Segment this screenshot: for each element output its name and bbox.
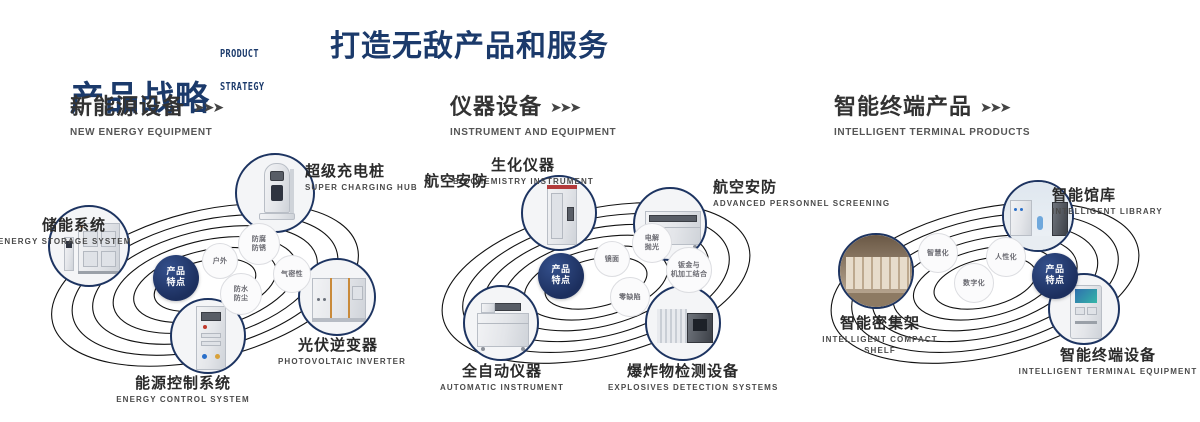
compact-shelf-icon — [840, 235, 912, 307]
section-title-cn: 仪器设备➤➤➤ — [450, 96, 616, 120]
label-intelligent-terminal-equipment: 智能终端设备 INTELLIGENT TERMINAL EQUIPMENT — [1018, 347, 1198, 377]
badge-product-features: 产品 特点 — [538, 253, 584, 299]
label-energy-control-system: 能源控制系统 ENERGY CONTROL SYSTEM — [88, 375, 278, 405]
label-intelligent-library: 智能馆库 INTELLIGENT LIBRARY — [1052, 187, 1192, 217]
page-title-en-line2: STRATEGY — [220, 81, 264, 92]
feature-bubble: 气密性 — [273, 255, 311, 293]
node-automatic-instrument[interactable] — [463, 285, 539, 361]
label-explosives-detection: 爆炸物检测设备 EXPLOSIVES DETECTION SYSTEMS — [608, 363, 758, 393]
feature-bubble: 电解抛光 — [632, 223, 672, 263]
label-intelligent-compact-shelf: 智能密集架 INTELLIGENT COMPACTSHELF — [790, 315, 970, 356]
section-title-cn: 新能源设备➤➤➤ — [70, 96, 222, 120]
page-title-en-line1: PRODUCT — [220, 48, 264, 59]
chevron-right-icon: ➤➤➤ — [980, 96, 1009, 120]
section-title-instrument: 仪器设备➤➤➤ INSTRUMENT AND EQUIPMENT — [450, 96, 616, 138]
diagram-group-new-energy: 储能系统 ENERGY STORAGE SYSTEM 超级充电桩 SUPER C… — [20, 155, 420, 415]
chevron-right-icon: ➤➤➤ — [193, 96, 222, 120]
feature-bubble: 钣金与机加工结合 — [666, 247, 712, 293]
section-title-intelligent-terminal: 智能终端产品➤➤➤ INTELLIGENT TERMINAL PRODUCTS — [834, 96, 1030, 138]
pv-inverter-cabinet-icon — [300, 260, 374, 334]
feature-bubble: 防腐防锈 — [238, 223, 280, 265]
badge-product-features: 产品 特点 — [1032, 253, 1078, 299]
automatic-instrument-icon — [465, 287, 537, 359]
label-energy-storage: 储能系统 ENERGY STORAGE SYSTEM — [0, 217, 106, 247]
section-title-new-energy: 新能源设备➤➤➤ NEW ENERGY EQUIPMENT — [70, 96, 222, 138]
feature-bubble: 智慧化 — [918, 233, 958, 273]
detection-cabinet-icon — [647, 287, 719, 359]
biochemistry-analyzer-icon — [523, 177, 595, 249]
feature-bubble: 防水防尘 — [220, 273, 262, 315]
diagram-group-intelligent-terminal: 智能馆库 INTELLIGENT LIBRARY 智能终端设备 INTELLIG… — [800, 155, 1200, 415]
page-title-en: PRODUCT STRATEGY — [220, 26, 264, 114]
label-automatic-instrument: 全自动仪器 AUTOMATIC INSTRUMENT — [428, 363, 576, 393]
chevron-right-icon: ➤➤➤ — [550, 96, 579, 120]
label-aviation-security-left: 航空安防 — [398, 173, 488, 190]
feature-bubble: 镜面 — [594, 241, 630, 277]
section-title-cn: 智能终端产品➤➤➤ — [834, 96, 1030, 120]
section-title-en: INTELLIGENT TERMINAL PRODUCTS — [834, 127, 1030, 138]
section-title-en: NEW ENERGY EQUIPMENT — [70, 127, 222, 138]
feature-bubble: 零缺陷 — [610, 277, 650, 317]
node-explosives-detection[interactable] — [645, 285, 721, 361]
feature-bubble: 数字化 — [954, 263, 994, 303]
node-intelligent-compact-shelf[interactable] — [838, 233, 914, 309]
node-super-charging-hub[interactable] — [235, 153, 315, 233]
product-strategy-infographic: 产品战略 PRODUCT STRATEGY 打造无敌产品和服务 新能源设备➤➤➤… — [0, 0, 1200, 422]
badge-product-features: 产品 特点 — [153, 255, 199, 301]
section-title-en: INSTRUMENT AND EQUIPMENT — [450, 127, 616, 138]
diagram-group-instrument: 生化仪器 BIOCHEMISTRY INSTRUMENT 航空安防 航空安防 A… — [408, 155, 808, 415]
label-pv-inverter: 光伏逆变器 PHOTOVOLTAIC INVERTER — [278, 337, 398, 367]
feature-bubble: 人性化 — [986, 237, 1026, 277]
charging-pile-icon — [237, 155, 313, 231]
page-slogan: 打造无敌产品和服务 — [330, 32, 609, 62]
